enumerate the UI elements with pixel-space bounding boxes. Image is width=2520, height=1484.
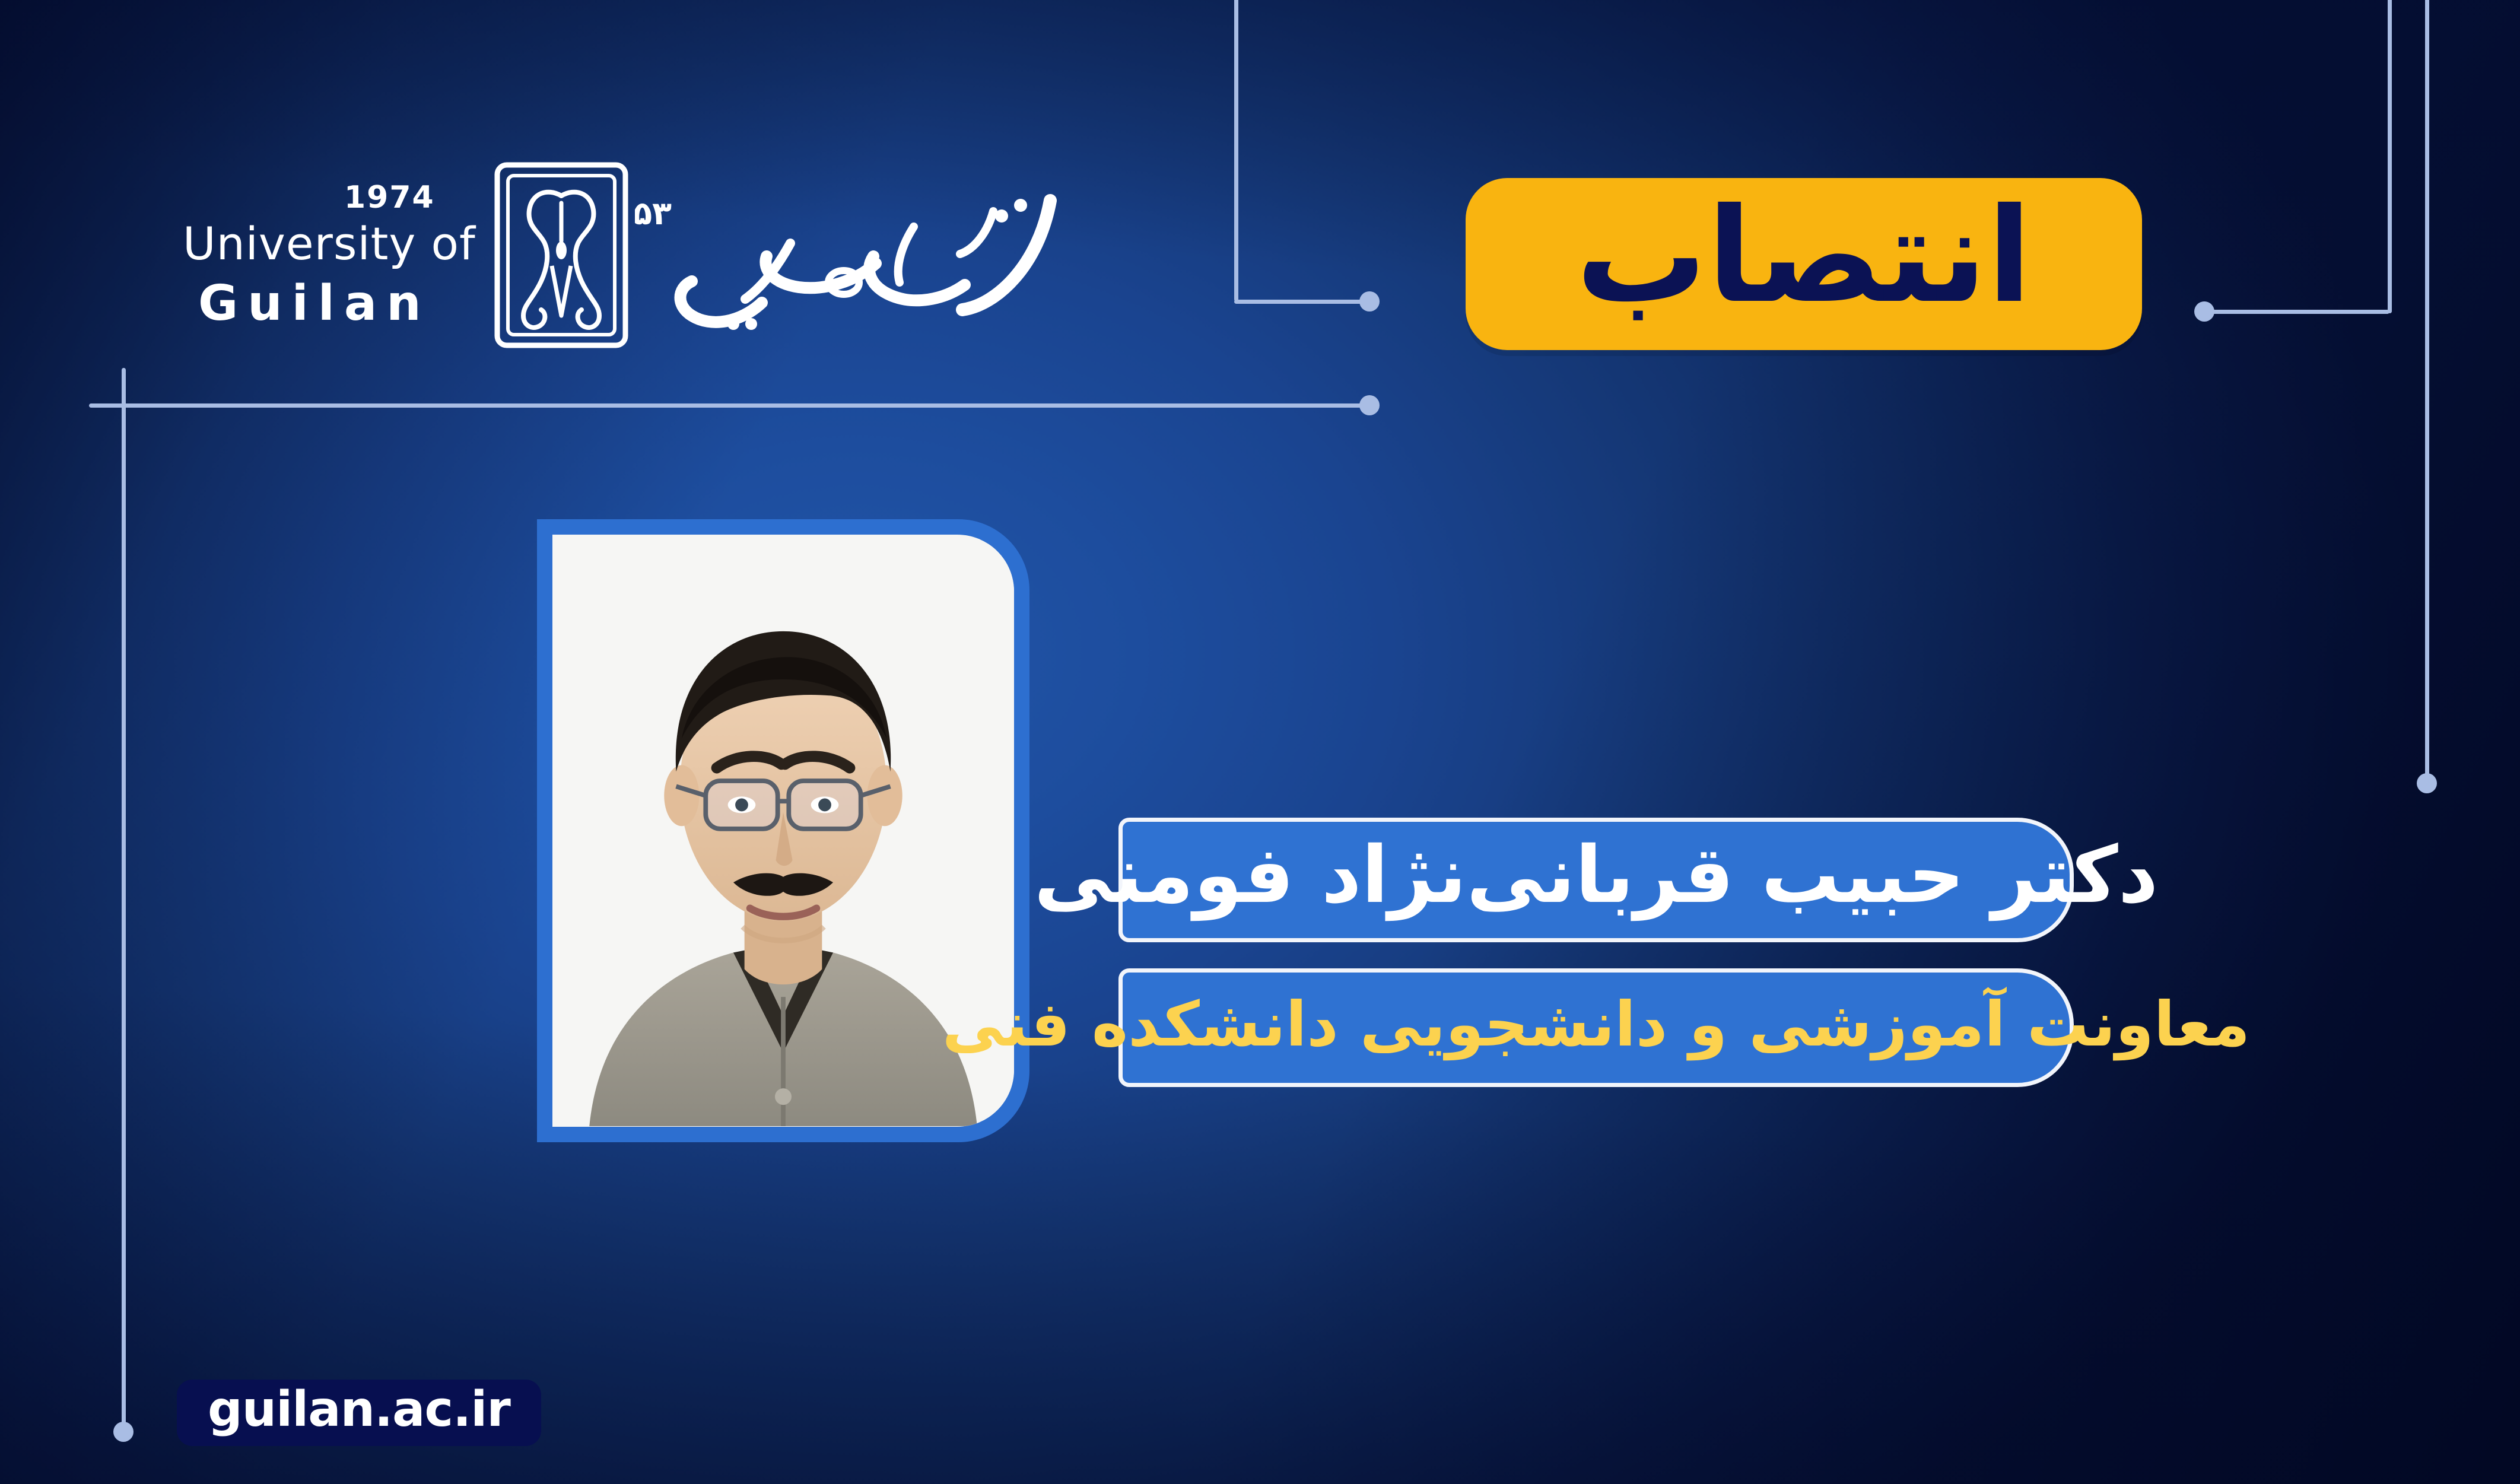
appointment-badge-label: انتصاب — [1576, 194, 2032, 318]
deco-line-right-inner-vertical — [2388, 0, 2392, 313]
logo-guilan-label: Guilan — [198, 279, 487, 328]
deco-dot-logo-underline — [1359, 395, 1380, 415]
website-pill[interactable]: guilan.ac.ir — [177, 1380, 541, 1446]
person-position-label: معاونت آموزشی و دانشجویی دانشکده فنی — [942, 993, 2250, 1055]
logo-persian-text: ۱۳۵۳ — [635, 154, 1086, 356]
deco-dot-left-bottom — [113, 1422, 134, 1442]
deco-dot-right-inner — [2194, 301, 2214, 322]
person-position-banner: معاونت آموزشی و دانشجویی دانشکده فنی — [1118, 968, 2074, 1087]
deco-dot-upper-left — [1359, 291, 1380, 312]
deco-line-right-outer-vertical — [2425, 0, 2429, 780]
logo-university-of-label: University of — [183, 221, 487, 266]
guilan-university-emblem-icon — [490, 160, 633, 350]
logo-founding-year-latin: 1974 — [344, 182, 487, 213]
university-logo: 1974 University of Guilan ۱۳۵۳ — [178, 136, 1222, 374]
person-name-label: دکتر حبیب قربانی‌نژاد فومنی — [1034, 836, 2159, 914]
logo-english-text: 1974 University of Guilan — [178, 182, 487, 328]
appointment-poster: 1974 University of Guilan ۱۳۵۳ — [0, 0, 2520, 1484]
person-name-banner: دکتر حبیب قربانی‌نژاد فومنی — [1118, 818, 2074, 942]
deco-line-logo-underline — [89, 403, 1371, 408]
deco-line-upper-left-horizontal — [1234, 300, 1369, 304]
deco-dot-right-outer — [2417, 773, 2437, 793]
website-url-label: guilan.ac.ir — [208, 1386, 510, 1434]
deco-line-left-frame-vertical — [122, 368, 126, 1430]
appointment-badge: انتصاب — [1466, 178, 2142, 350]
deco-line-top-center-vertical — [1234, 0, 1238, 301]
svg-text:۱۳۵۳: ۱۳۵۳ — [635, 195, 672, 232]
deco-line-right-inner-horizontal — [2204, 310, 2389, 314]
